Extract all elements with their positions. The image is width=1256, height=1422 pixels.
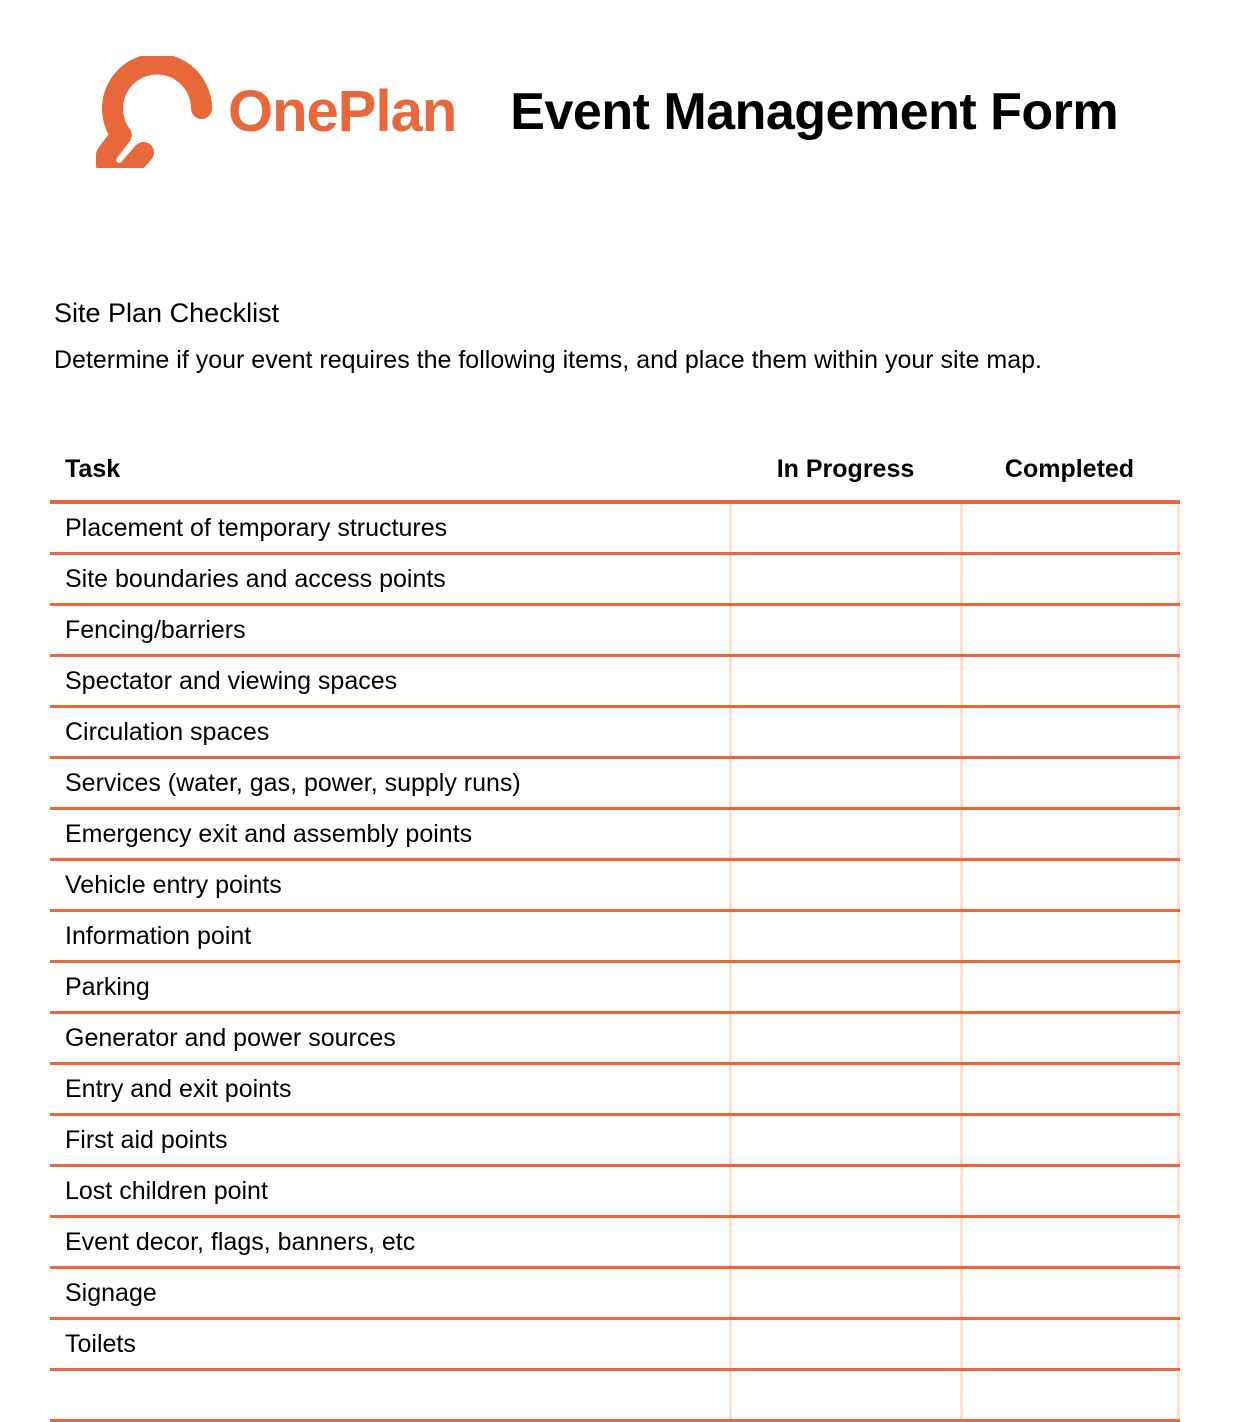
completed-checkbox-cell[interactable] [961,605,1178,656]
table-row: Services (water, gas, power, supply runs… [50,758,1178,809]
task-cell: Circulation spaces [50,707,730,758]
task-cell: Spectator and viewing spaces [50,656,730,707]
table-body: Placement of temporary structuresSite bo… [50,502,1178,1421]
in-progress-checkbox-cell[interactable] [730,1319,961,1370]
document-page: OnePlan Event Management Form Site Plan … [0,0,1256,1400]
section-heading: Site Plan Checklist [54,296,1194,330]
completed-checkbox-cell[interactable] [961,502,1178,554]
task-cell: Entry and exit points [50,1064,730,1115]
table-row: Fencing/barriers [50,605,1178,656]
completed-checkbox-cell[interactable] [961,1166,1178,1217]
task-cell: Information point [50,911,730,962]
intro-block: Site Plan Checklist Determine if your ev… [54,296,1194,376]
table-row: Lost children point [50,1166,1178,1217]
completed-checkbox-cell[interactable] [961,1268,1178,1319]
task-cell: Emergency exit and assembly points [50,809,730,860]
table-row: Spectator and viewing spaces [50,656,1178,707]
task-cell: Event decor, flags, banners, etc [50,1217,730,1268]
column-header-completed: Completed [961,455,1178,502]
in-progress-checkbox-cell[interactable] [730,809,961,860]
section-description: Determine if your event requires the fol… [54,344,1194,376]
completed-checkbox-cell[interactable] [961,554,1178,605]
completed-checkbox-cell[interactable] [961,656,1178,707]
in-progress-checkbox-cell[interactable] [730,1370,961,1421]
column-header-task: Task [50,455,730,502]
task-cell: Signage [50,1268,730,1319]
in-progress-checkbox-cell[interactable] [730,554,961,605]
in-progress-checkbox-cell[interactable] [730,758,961,809]
in-progress-checkbox-cell[interactable] [730,656,961,707]
table-header: Task In Progress Completed [50,455,1178,502]
table-row [50,1370,1178,1421]
document-header: OnePlan Event Management Form [96,52,1118,172]
task-cell: Vehicle entry points [50,860,730,911]
table-row: Information point [50,911,1178,962]
in-progress-checkbox-cell[interactable] [730,1064,961,1115]
column-header-in-progress: In Progress [730,455,961,502]
task-cell: Parking [50,962,730,1013]
table-row: Generator and power sources [50,1013,1178,1064]
table-row: First aid points [50,1115,1178,1166]
table-header-row: Task In Progress Completed [50,455,1178,502]
in-progress-checkbox-cell[interactable] [730,707,961,758]
in-progress-checkbox-cell[interactable] [730,1217,961,1268]
completed-checkbox-cell[interactable] [961,1370,1178,1421]
table-row: Circulation spaces [50,707,1178,758]
completed-checkbox-cell[interactable] [961,1013,1178,1064]
table-row: Event decor, flags, banners, etc [50,1217,1178,1268]
in-progress-checkbox-cell[interactable] [730,502,961,554]
completed-checkbox-cell[interactable] [961,860,1178,911]
completed-checkbox-cell[interactable] [961,1115,1178,1166]
completed-checkbox-cell[interactable] [961,1217,1178,1268]
in-progress-checkbox-cell[interactable] [730,1115,961,1166]
completed-checkbox-cell[interactable] [961,758,1178,809]
table-row: Parking [50,962,1178,1013]
completed-checkbox-cell[interactable] [961,911,1178,962]
in-progress-checkbox-cell[interactable] [730,1166,961,1217]
table-row: Site boundaries and access points [50,554,1178,605]
table-row: Toilets [50,1319,1178,1370]
completed-checkbox-cell[interactable] [961,809,1178,860]
table-row: Placement of temporary structures [50,502,1178,554]
completed-checkbox-cell[interactable] [961,1064,1178,1115]
completed-checkbox-cell[interactable] [961,707,1178,758]
task-cell: Lost children point [50,1166,730,1217]
in-progress-checkbox-cell[interactable] [730,605,961,656]
in-progress-checkbox-cell[interactable] [730,962,961,1013]
task-cell: Toilets [50,1319,730,1370]
in-progress-checkbox-cell[interactable] [730,911,961,962]
task-cell: Services (water, gas, power, supply runs… [50,758,730,809]
table-row: Emergency exit and assembly points [50,809,1178,860]
task-cell [50,1370,730,1421]
table-row: Entry and exit points [50,1064,1178,1115]
completed-checkbox-cell[interactable] [961,1319,1178,1370]
table-row: Vehicle entry points [50,860,1178,911]
completed-checkbox-cell[interactable] [961,962,1178,1013]
in-progress-checkbox-cell[interactable] [730,1268,961,1319]
in-progress-checkbox-cell[interactable] [730,1013,961,1064]
oneplan-pin-logo-icon [96,56,214,168]
in-progress-checkbox-cell[interactable] [730,860,961,911]
task-cell: Generator and power sources [50,1013,730,1064]
page-title: Event Management Form [510,86,1118,138]
task-cell: First aid points [50,1115,730,1166]
task-cell: Site boundaries and access points [50,554,730,605]
task-cell: Placement of temporary structures [50,502,730,554]
table-row: Signage [50,1268,1178,1319]
task-cell: Fencing/barriers [50,605,730,656]
site-plan-checklist-table: Task In Progress Completed Placement of … [50,455,1180,1422]
oneplan-wordmark: OnePlan [228,83,456,141]
